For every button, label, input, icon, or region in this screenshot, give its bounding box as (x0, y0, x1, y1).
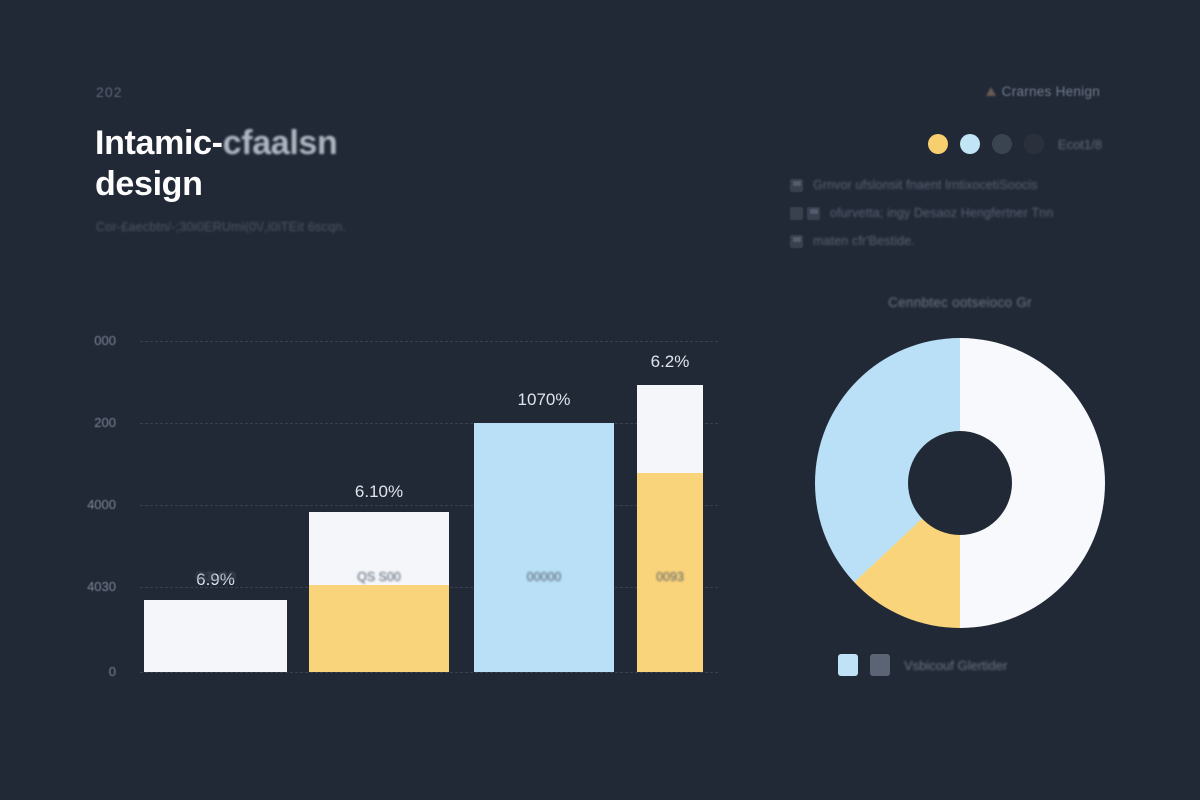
swatch-blue[interactable] (960, 134, 980, 154)
swatch-row-label: Ecot1/8 (1058, 137, 1102, 152)
swatch-faint[interactable] (1024, 134, 1044, 154)
bar-column[interactable]: 6.10% QS S00 (309, 512, 449, 672)
bar-column[interactable]: 1070% 00000 (474, 423, 614, 672)
gridline (140, 423, 718, 424)
triangle-icon (986, 87, 996, 96)
bar-segment-blue (474, 423, 614, 672)
bar-segment-white (637, 385, 703, 473)
meta-bullet-list: Grnvor ufslonsit fnaent lrntixocetiSooci… (790, 178, 1102, 248)
legend-label: Vsbicouf Glertider (904, 658, 1007, 673)
donut-legend: Vsbicouf Glertider (838, 654, 1130, 676)
donut-graphic[interactable] (815, 338, 1105, 628)
dashboard-canvas: 202 Intamic-cfaalsn design Cor-£aecbtn/-… (0, 0, 1200, 800)
list-item: Grnvor ufslonsit fnaent lrntixocetiSooci… (790, 178, 1102, 192)
meta-title-label: Crarnes Henign (1002, 84, 1100, 99)
swatch-slate[interactable] (992, 134, 1012, 154)
list-item-label: ofurvetta; ingy Desaoz Hengfertner Tnn (830, 206, 1053, 220)
grid-icon (790, 235, 803, 248)
legend-swatch-blue[interactable] (838, 654, 858, 676)
x-tick-label: 00000 (527, 570, 562, 584)
donut-chart: Cennbtec ootseioco Gr Vsbicouf Glertider (790, 295, 1130, 676)
y-tick-label: 0 (52, 664, 116, 679)
y-tick-label: 200 (52, 415, 116, 430)
x-tick-label: O3U10 (196, 570, 236, 584)
gridline (140, 672, 718, 673)
donut-hole (908, 431, 1012, 535)
bar-value-label: 6.2% (651, 352, 690, 372)
gridline (140, 341, 718, 342)
x-tick-label: 0093 (656, 570, 684, 584)
bar-column[interactable]: 6.2% 0093 (637, 385, 703, 672)
list-item: maten cfr'Bestide. (790, 234, 1102, 248)
bar-segment-yellow (309, 585, 449, 672)
bar-column[interactable]: 6.9% O3U10 (144, 600, 287, 672)
y-tick-label: 000 (52, 333, 116, 348)
list-item: ofurvetta; ingy Desaoz Hengfertner Tnn (790, 206, 1102, 220)
meta-title: Crarnes Henign (986, 84, 1100, 99)
swatch-yellow[interactable] (928, 134, 948, 154)
gridline (140, 505, 718, 506)
donut-chart-title: Cennbtec ootseioco Gr (790, 295, 1130, 310)
bar-value-label: 6.10% (355, 482, 403, 502)
legend-swatch-gray[interactable] (870, 654, 890, 676)
bar-segment-white (144, 600, 287, 672)
y-tick-label: 4000 (52, 497, 116, 512)
bar-value-label: 1070% (518, 390, 571, 410)
note-double-icon (807, 207, 820, 220)
color-swatch-row: Ecot1/8 (928, 134, 1102, 154)
list-item-label: Grnvor ufslonsit fnaent lrntixocetiSooci… (813, 178, 1038, 192)
x-tick-label: QS S00 (357, 570, 401, 584)
bar-chart: 000 200 4000 4030 0 6.9% O3U10 6.10% QS … (0, 0, 760, 800)
note-icon (790, 179, 803, 192)
list-item-label: maten cfr'Bestide. (813, 234, 915, 248)
y-tick-label: 4030 (52, 579, 116, 594)
